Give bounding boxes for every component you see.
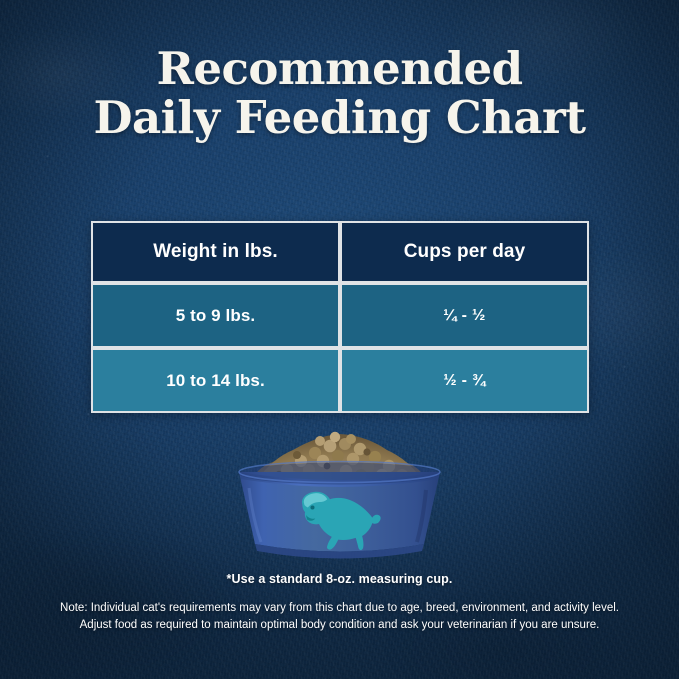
column-header-weight: Weight in lbs. <box>91 221 340 283</box>
weight-value: 10 to 14 lbs. <box>93 371 338 391</box>
title-line-1: Recommended <box>0 44 679 93</box>
note-line-2: Adjust food as required to maintain opti… <box>0 617 679 634</box>
cell-weight-range: 10 to 14 lbs. <box>91 348 340 413</box>
table-header-row: Weight in lbs. Cups per day <box>91 221 589 283</box>
title-line-2: Daily Feeding Chart <box>0 93 679 142</box>
weight-value: 5 to 9 lbs. <box>93 306 338 326</box>
table-row: 5 to 9 lbs. ¼ - ½ <box>91 283 589 348</box>
cell-cups-amount: ½ - ¾ <box>340 348 589 413</box>
cell-weight-range: 5 to 9 lbs. <box>91 283 340 348</box>
feeding-chart-page: Recommended Daily Feeding Chart Weight i… <box>0 0 679 679</box>
disclaimer-note: Note: Individual cat's requirements may … <box>0 600 679 633</box>
food-bowl-illustration <box>227 428 452 573</box>
note-line-1: Note: Individual cat's requirements may … <box>0 600 679 617</box>
table-row: 10 to 14 lbs. ½ - ¾ <box>91 348 589 413</box>
page-title: Recommended Daily Feeding Chart <box>0 44 679 142</box>
feeding-table: Weight in lbs. Cups per day 5 to 9 lbs. … <box>91 221 589 413</box>
cups-value: ¼ - ½ <box>342 307 587 325</box>
measuring-cup-footnote: *Use a standard 8-oz. measuring cup. <box>0 572 679 586</box>
column-header-cups: Cups per day <box>340 221 589 283</box>
cell-cups-amount: ¼ - ½ <box>340 283 589 348</box>
cups-value: ½ - ¾ <box>342 372 587 390</box>
